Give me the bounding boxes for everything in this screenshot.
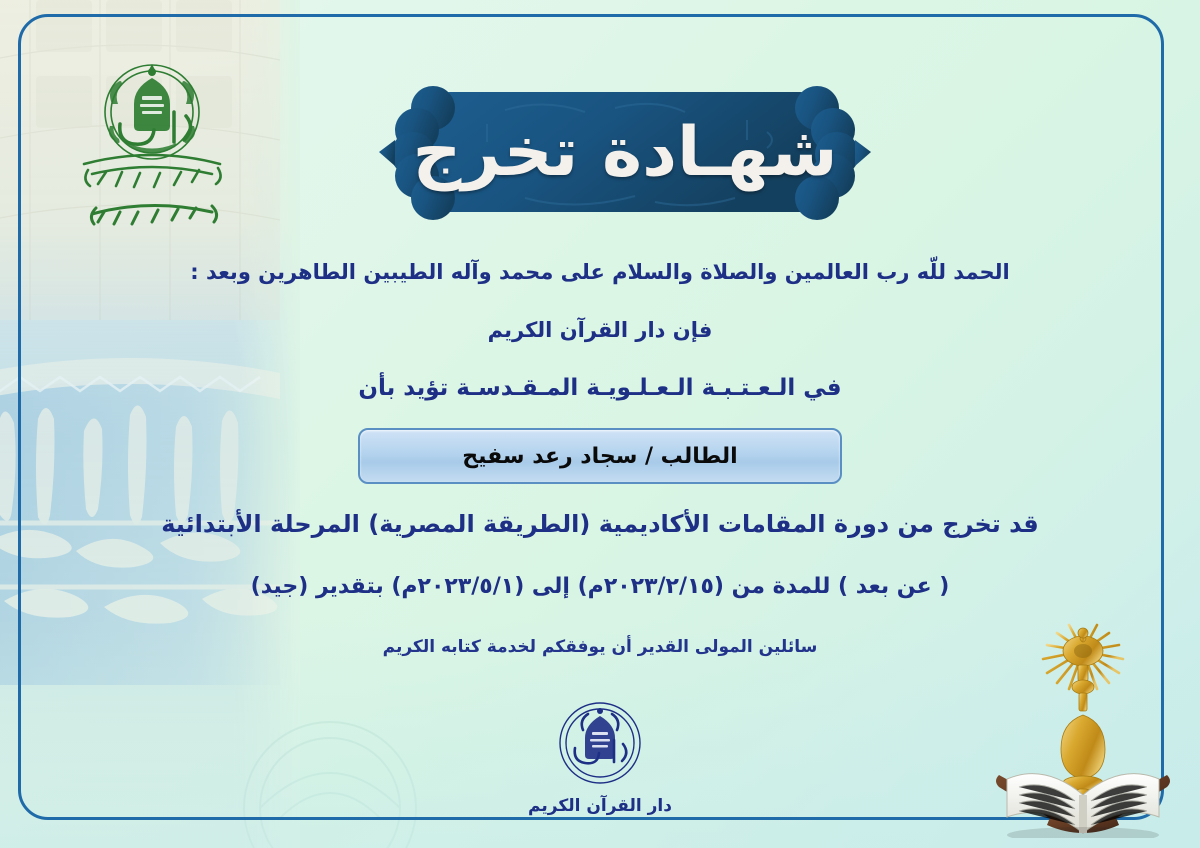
shrine-line: في الـعـتـبـة الـعـلـويـة المـقـدسـة تؤي… [0,373,1200,404]
student-name-row: الطالب / سجاد رعد سفيح [0,428,1200,484]
praise-line: الحمد للّه رب العالمين والصلاة والسلام ع… [0,258,1200,286]
course-line: قد تخرج من دورة المقامات الأكاديمية (الط… [0,508,1200,540]
student-name-box: الطالب / سجاد رعد سفيح [358,428,842,484]
institute-line: فإن دار القرآن الكريم [0,316,1200,344]
title-banner: شهـادة تخرج [355,62,895,242]
shrine-logo-icon [62,52,242,237]
certificate-page: شهـادة تخرج الحمد للّه رب العالمين والصل… [0,0,1200,848]
certificate-title: شهـادة تخرج [355,62,895,242]
certificate-body: الحمد للّه رب العالمين والصلاة والسلام ع… [0,258,1200,426]
dates-line: ( عن بعد ) للمدة من (٢٠٢٣/٢/١٥م) إلى (٢٠… [0,572,1200,602]
student-name-text: الطالب / سجاد رعد سفيح [462,444,737,469]
seal-caption: دار القرآن الكريم [528,796,672,816]
quran-on-rehal-icon [981,603,1186,838]
dar-al-quran-seal-icon [557,700,643,786]
